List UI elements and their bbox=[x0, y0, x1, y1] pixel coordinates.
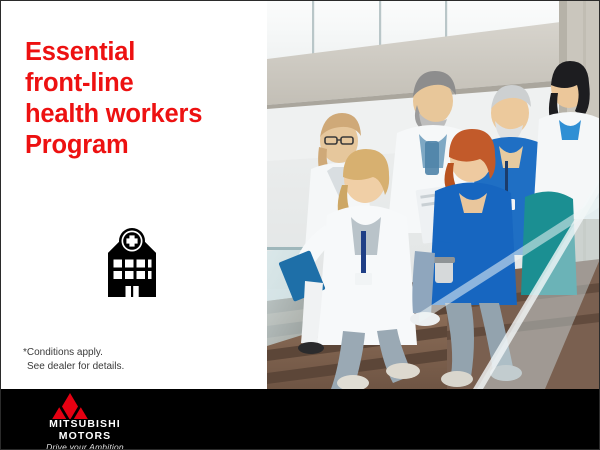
fine-print-line-2: See dealer for details. bbox=[23, 360, 243, 374]
brand-name: MITSUBISHI MOTORS bbox=[20, 419, 150, 442]
mitsubishi-three-diamonds-logo bbox=[46, 393, 94, 419]
headline-line-4: Program bbox=[25, 130, 261, 161]
hospital-icon bbox=[96, 227, 168, 301]
advertisement-banner: Essential front-line health workers Prog… bbox=[0, 0, 600, 450]
brand-lockup: MITSUBISHI MOTORS Drive your Ambition bbox=[20, 393, 150, 449]
healthcare-workers-photo bbox=[267, 1, 600, 389]
headline-line-2: front-line bbox=[25, 68, 261, 99]
headline-line-3: health workers bbox=[25, 99, 261, 130]
brand-tagline: Drive your Ambition bbox=[20, 442, 150, 450]
brand-name-line-1: MITSUBISHI bbox=[20, 419, 150, 431]
footer-bar: MITSUBISHI MOTORS Drive your Ambition bbox=[1, 389, 600, 450]
fine-print: *Conditions apply. See dealer for detail… bbox=[23, 346, 243, 374]
headline-line-1: Essential bbox=[25, 37, 261, 68]
left-copy-panel: Essential front-line health workers Prog… bbox=[1, 1, 267, 389]
brand-name-line-2: MOTORS bbox=[20, 431, 150, 443]
fine-print-line-1: *Conditions apply. bbox=[23, 346, 243, 360]
page-title: Essential front-line health workers Prog… bbox=[25, 37, 261, 161]
